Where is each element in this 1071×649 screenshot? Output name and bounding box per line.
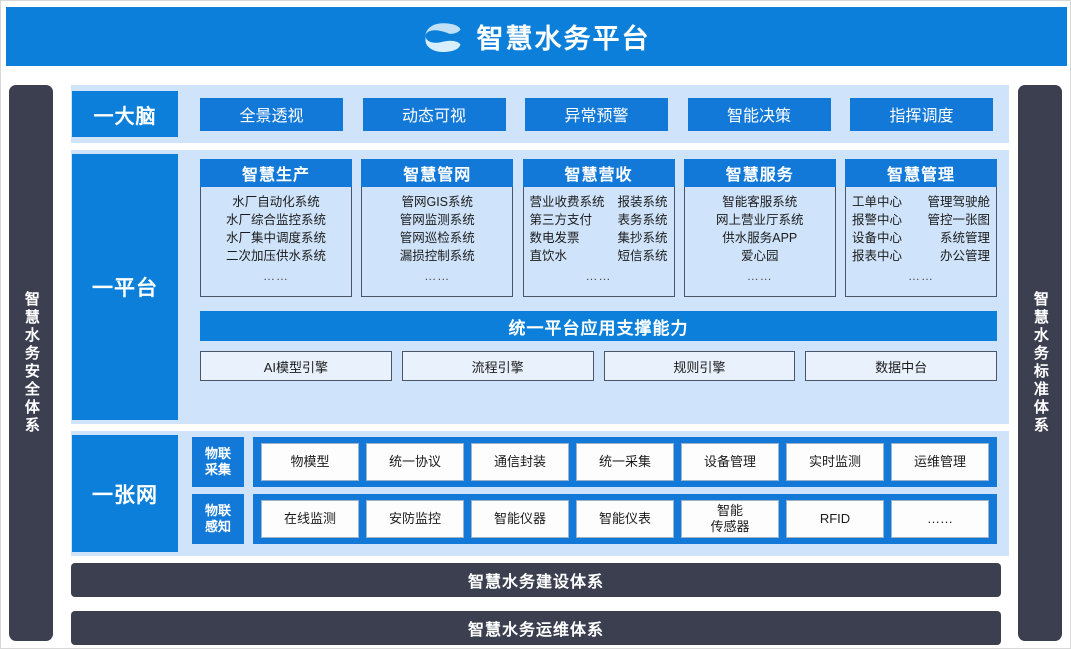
engine-chip[interactable]: 流程引擎 <box>402 351 594 381</box>
platform-card-item[interactable]: 办公管理 <box>940 247 990 265</box>
engine-list: AI模型引擎流程引擎规则引擎数据中台 <box>200 351 997 381</box>
platform-card-body: 智能客服系统网上营业厅系统供水服务APP爱心园…… <box>684 187 836 297</box>
brain-row-tag: 一大脑 <box>72 91 178 137</box>
platform-card-title: 智慧管网 <box>361 159 513 187</box>
platform-card-item[interactable]: 漏损控制系统 <box>400 247 475 265</box>
brain-chip[interactable]: 动态可视 <box>363 98 506 131</box>
platform-card-ellipsis: …… <box>263 269 289 283</box>
brain-chip[interactable]: 异常预警 <box>525 98 668 131</box>
platform-card-body: 营业收费系统报装系统第三方支付表务系统数电发票集抄系统直饮水短信系统…… <box>523 187 675 297</box>
right-vertical-bar-label: 智慧水务标准体系 <box>1030 291 1050 435</box>
network-chip[interactable]: 运维管理 <box>891 443 989 481</box>
platform-card-ellipsis: …… <box>424 269 450 283</box>
network-chip[interactable]: 通信封装 <box>471 443 569 481</box>
brain-chip[interactable]: 指挥调度 <box>850 98 993 131</box>
network-chip[interactable]: 安防监控 <box>366 500 464 538</box>
platform-card-item[interactable]: 直饮水 <box>530 247 568 265</box>
network-sub-row: 物联 感知在线监测安防监控智能仪器智能仪表智能 传感器RFID…… <box>192 494 997 544</box>
center-column: 一大脑 全景透视动态可视异常预警智能决策指挥调度 一平台 智慧生产水厂自动化系统… <box>63 85 1009 645</box>
network-chip[interactable]: RFID <box>786 500 884 538</box>
network-row-tag: 一张网 <box>72 435 178 552</box>
platform-card-ellipsis: …… <box>747 269 773 283</box>
network-chip-strip: 物模型统一协议通信封装统一采集设备管理实时监测运维管理 <box>253 437 997 487</box>
platform-card-item[interactable]: 爱心园 <box>741 247 779 265</box>
engine-chip[interactable]: 规则引擎 <box>604 351 796 381</box>
platform-card-item[interactable]: 报装系统 <box>617 193 667 211</box>
platform-card-ellipsis: …… <box>586 269 612 283</box>
engine-chip[interactable]: 数据中台 <box>805 351 997 381</box>
support-capability-bar: 统一平台应用支撑能力 <box>200 311 997 341</box>
network-sub-row-tag: 物联 感知 <box>192 494 244 544</box>
water-leaf-logo-icon <box>423 17 463 57</box>
platform-card-item[interactable]: 数电发票 <box>530 229 580 247</box>
platform-card-item[interactable]: 第三方支付 <box>530 211 593 229</box>
platform-card-item[interactable]: 系统管理 <box>940 229 990 247</box>
platform-card-item[interactable]: 水厂自动化系统 <box>232 193 320 211</box>
right-vertical-bar-standard-system: 智慧水务标准体系 <box>1018 85 1062 641</box>
network-sub-rows: 物联 采集物模型统一协议通信封装统一采集设备管理实时监测运维管理物联 感知在线监… <box>178 431 1009 556</box>
platform-card-body: 工单中心管理驾驶舱报警中心管控一张图设备中心系统管理报表中心办公管理…… <box>845 187 997 297</box>
platform-card-item[interactable]: 管控一张图 <box>927 211 990 229</box>
platform-card-body: 管网GIS系统管网监测系统管网巡检系统漏损控制系统…… <box>361 187 513 297</box>
platform-card-item[interactable]: 设备中心 <box>852 229 902 247</box>
app-header: 智慧水务平台 <box>6 7 1067 66</box>
platform-card-title: 智慧服务 <box>684 159 836 187</box>
network-sub-row-tag: 物联 采集 <box>192 437 244 487</box>
brain-chip-list: 全景透视动态可视异常预警智能决策指挥调度 <box>178 98 1009 131</box>
platform-card-item[interactable]: 工单中心 <box>852 193 902 211</box>
network-chip[interactable]: 物模型 <box>261 443 359 481</box>
platform-card[interactable]: 智慧生产水厂自动化系统水厂综合监控系统水厂集中调度系统二次加压供水系统…… <box>200 159 352 297</box>
platform-card-body: 水厂自动化系统水厂综合监控系统水厂集中调度系统二次加压供水系统…… <box>200 187 352 297</box>
platform-card-item[interactable]: 营业收费系统 <box>530 193 605 211</box>
network-chip[interactable]: 设备管理 <box>681 443 779 481</box>
network-sub-row: 物联 采集物模型统一协议通信封装统一采集设备管理实时监测运维管理 <box>192 437 997 487</box>
platform-card-title: 智慧生产 <box>200 159 352 187</box>
platform-card-list: 智慧生产水厂自动化系统水厂综合监控系统水厂集中调度系统二次加压供水系统……智慧管… <box>200 159 997 297</box>
left-vertical-bar-label: 智慧水务安全体系 <box>21 291 41 435</box>
platform-card[interactable]: 智慧服务智能客服系统网上营业厅系统供水服务APP爱心园…… <box>684 159 836 297</box>
platform-card-item[interactable]: 水厂集中调度系统 <box>226 229 326 247</box>
platform-card-item[interactable]: 报警中心 <box>852 211 902 229</box>
platform-card-item[interactable]: 报表中心 <box>852 247 902 265</box>
platform-card-item[interactable]: 二次加压供水系统 <box>226 247 326 265</box>
ops-system-bar: 智慧水务运维体系 <box>71 611 1001 645</box>
platform-card[interactable]: 智慧管理工单中心管理驾驶舱报警中心管控一张图设备中心系统管理报表中心办公管理…… <box>845 159 997 297</box>
network-chip[interactable]: 智能仪器 <box>471 500 569 538</box>
platform-card-item[interactable]: 短信系统 <box>617 247 667 265</box>
network-chip[interactable]: …… <box>891 500 989 538</box>
platform-card-item[interactable]: 供水服务APP <box>722 229 797 247</box>
network-chip[interactable]: 智能仪表 <box>576 500 674 538</box>
platform-card[interactable]: 智慧营收营业收费系统报装系统第三方支付表务系统数电发票集抄系统直饮水短信系统…… <box>523 159 675 297</box>
platform-card[interactable]: 智慧管网管网GIS系统管网监测系统管网巡检系统漏损控制系统…… <box>361 159 513 297</box>
construction-system-bar: 智慧水务建设体系 <box>71 563 1001 597</box>
platform-card-item[interactable]: 智能客服系统 <box>722 193 797 211</box>
platform-card-item[interactable]: 表务系统 <box>617 211 667 229</box>
network-chip[interactable]: 实时监测 <box>786 443 884 481</box>
platform-card-ellipsis: …… <box>908 269 934 283</box>
network-chip-strip: 在线监测安防监控智能仪器智能仪表智能 传感器RFID…… <box>253 494 997 544</box>
left-vertical-bar-security-system: 智慧水务安全体系 <box>9 85 53 641</box>
page-title: 智慧水务平台 <box>477 17 651 56</box>
platform-row: 一平台 智慧生产水厂自动化系统水厂综合监控系统水厂集中调度系统二次加压供水系统…… <box>63 150 1009 424</box>
platform-card-item[interactable]: 管网监测系统 <box>400 211 475 229</box>
brain-chip[interactable]: 智能决策 <box>688 98 831 131</box>
platform-card-title: 智慧营收 <box>523 159 675 187</box>
smart-water-platform-architecture: 智慧水务平台 智慧水务安全体系 智慧水务标准体系 一大脑 全景透视动态可视异常预… <box>0 0 1071 649</box>
engine-chip[interactable]: AI模型引擎 <box>200 351 392 381</box>
brain-row: 一大脑 全景透视动态可视异常预警智能决策指挥调度 <box>63 85 1009 143</box>
brain-chip[interactable]: 全景透视 <box>200 98 343 131</box>
platform-card-item[interactable]: 水厂综合监控系统 <box>226 211 326 229</box>
network-row: 一张网 物联 采集物模型统一协议通信封装统一采集设备管理实时监测运维管理物联 感… <box>63 431 1009 556</box>
platform-card-item[interactable]: 管网GIS系统 <box>401 193 473 211</box>
network-chip[interactable]: 统一采集 <box>576 443 674 481</box>
platform-card-item[interactable]: 管网巡检系统 <box>400 229 475 247</box>
platform-card-title: 智慧管理 <box>845 159 997 187</box>
platform-card-item[interactable]: 集抄系统 <box>617 229 667 247</box>
network-chip[interactable]: 在线监测 <box>261 500 359 538</box>
network-chip[interactable]: 统一协议 <box>366 443 464 481</box>
platform-card-item[interactable]: 管理驾驶舱 <box>927 193 990 211</box>
platform-card-item[interactable]: 网上营业厅系统 <box>716 211 804 229</box>
platform-row-tag: 一平台 <box>72 154 178 420</box>
network-chip[interactable]: 智能 传感器 <box>681 500 779 538</box>
